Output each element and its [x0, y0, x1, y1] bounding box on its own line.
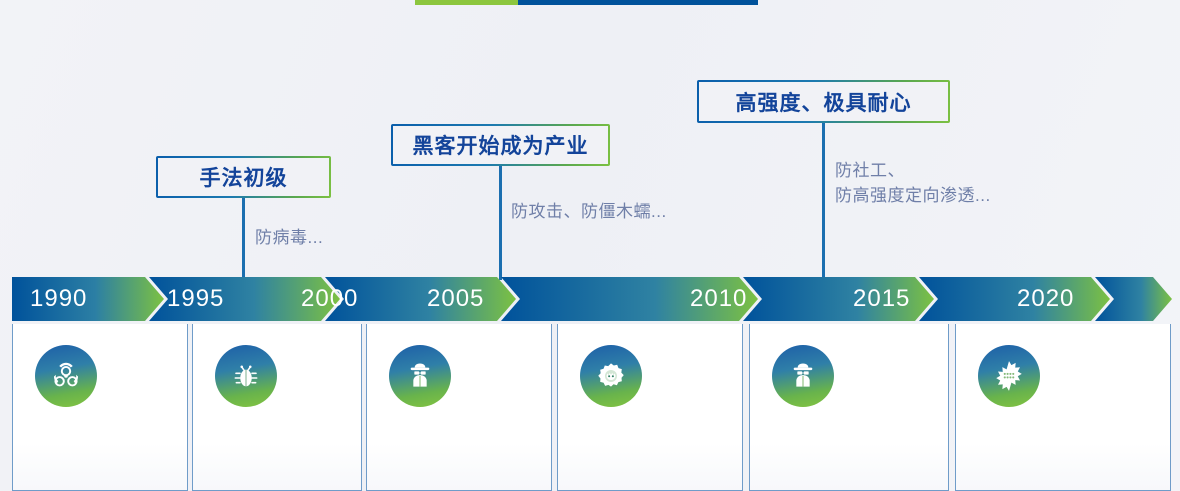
timeline-year-2010[interactable]: 2010 — [690, 277, 747, 321]
note-text-3: 防社工、 防高强度定向渗透... — [835, 159, 991, 208]
virus-spike-icon — [978, 345, 1040, 407]
connector-line-3 — [822, 123, 825, 280]
timeline-card-2[interactable] — [192, 324, 362, 491]
hacker-spy-icon — [389, 345, 451, 407]
connector-line-1 — [242, 198, 245, 280]
timeline-year-2000[interactable]: 2000 — [301, 277, 358, 321]
timeline-card-3[interactable] — [366, 324, 552, 491]
timeline-card-1[interactable] — [12, 324, 188, 491]
timeline-card-4[interactable] — [557, 324, 743, 491]
timeline-year-1990[interactable]: 1990 — [30, 277, 87, 321]
connector-line-2 — [499, 166, 502, 280]
top-accent-bar-green — [415, 0, 518, 5]
timeline-year-1995[interactable]: 1995 — [167, 277, 224, 321]
hacker-spy-icon — [772, 345, 834, 407]
callout-label-2: 黑客开始成为产业 — [413, 130, 589, 160]
bug-icon — [215, 345, 277, 407]
top-accent-bar-blue — [518, 0, 758, 5]
timeline-year-2005[interactable]: 2005 — [427, 277, 484, 321]
malware-gear-icon — [580, 345, 642, 407]
timeline-card-5[interactable] — [749, 324, 949, 491]
callout-label-3: 高强度、极具耐心 — [736, 87, 912, 117]
timeline-card-6[interactable] — [955, 324, 1171, 491]
note-text-1: 防病毒... — [255, 226, 323, 251]
callout-label-1: 手法初级 — [200, 162, 288, 192]
note-text-2: 防攻击、防僵木蠕... — [511, 200, 667, 225]
callout-box-2: 黑客开始成为产业 — [391, 124, 610, 166]
timeline-bar: 1990 1995 2000 2005 2010 2015 2020 — [12, 277, 1172, 321]
callout-box-1: 手法初级 — [156, 156, 331, 198]
timeline-year-2020[interactable]: 2020 — [1017, 277, 1074, 321]
biohazard-icon — [35, 345, 97, 407]
callout-box-3: 高强度、极具耐心 — [697, 80, 950, 123]
timeline-year-2015[interactable]: 2015 — [853, 277, 910, 321]
